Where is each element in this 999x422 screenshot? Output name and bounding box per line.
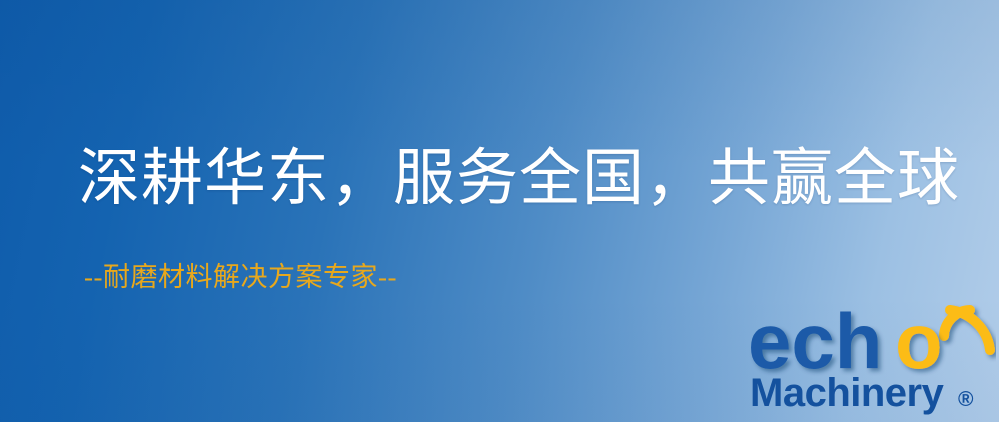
promo-banner: 深耕华东，服务全国，共赢全球 --耐磨材料解决方案专家-- ech o Mach… [0,0,999,422]
logo-brandline: Machinery [750,371,945,415]
echo-wave-icon [944,310,990,350]
banner-subtitle: --耐磨材料解决方案专家-- [84,264,397,291]
banner-headline: 深耕华东，服务全国，共赢全球 [78,148,960,210]
logo-registered-mark: ® [958,388,974,411]
echo-machinery-logo[interactable]: ech o Machinery ® [744,296,996,420]
